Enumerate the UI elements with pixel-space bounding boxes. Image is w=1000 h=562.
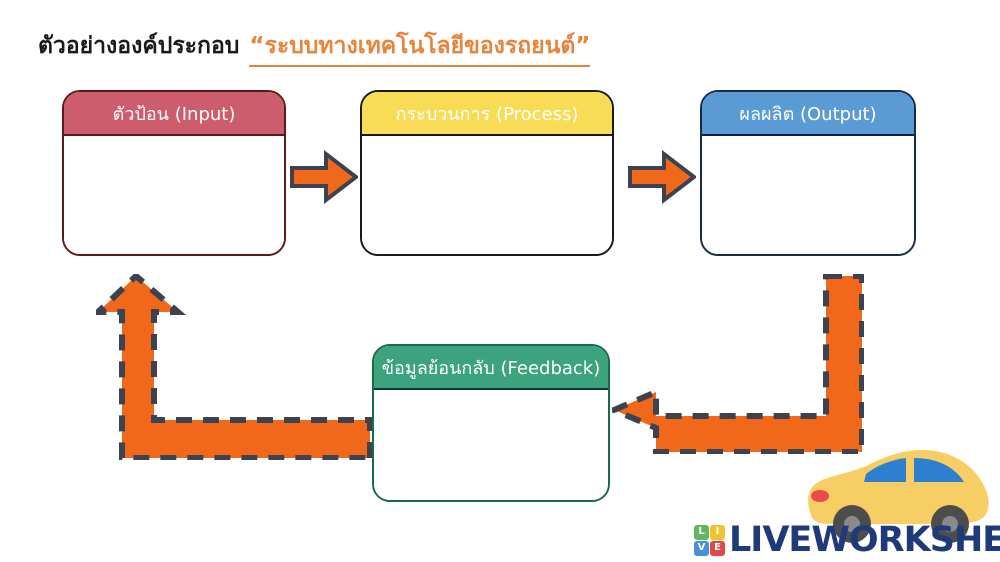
worksheet-canvas: ตัวอย่างองค์ประกอบ “ระบบทางเทคโนโลยีของร… <box>0 0 1000 562</box>
box-feedback[interactable]: ข้อมูลย้อนกลับ (Feedback) <box>372 344 610 502</box>
box-output-header: ผลผลิต (Output) <box>702 92 914 136</box>
arrow-input-to-process-icon <box>290 148 358 206</box>
box-input-answer-area[interactable] <box>64 136 284 254</box>
box-process-answer-area[interactable] <box>362 136 612 254</box>
box-output[interactable]: ผลผลิต (Output) <box>700 90 916 256</box>
arrow-process-to-output-icon <box>628 148 696 206</box>
box-input-header: ตัวป้อน (Input) <box>64 92 284 136</box>
logo-tile-v: V <box>694 541 709 556</box>
box-output-answer-area[interactable] <box>702 136 914 254</box>
page-title-quoted: “ระบบทางเทคโนโลยีของรถยนต์” <box>249 28 590 67</box>
logo-tile-l: L <box>694 525 709 540</box>
box-input[interactable]: ตัวป้อน (Input) <box>62 90 286 256</box>
page-title: ตัวอย่างองค์ประกอบ “ระบบทางเทคโนโลยีของร… <box>38 28 590 67</box>
box-process-header: กระบวนการ (Process) <box>362 92 612 136</box>
box-feedback-header: ข้อมูลย้อนกลับ (Feedback) <box>374 346 608 390</box>
box-process[interactable]: กระบวนการ (Process) <box>360 90 614 256</box>
page-title-main: ตัวอย่างองค์ประกอบ <box>38 28 239 64</box>
box-feedback-answer-area[interactable] <box>374 390 608 500</box>
liveworksheets-logo-tiles: L I V E <box>694 525 725 556</box>
arrow-feedback-to-input-icon <box>96 274 372 460</box>
arrow-output-to-feedback-icon <box>612 274 864 454</box>
liveworksheets-wordmark: LIVEWORKSHEETS <box>729 523 1000 558</box>
logo-tile-i: I <box>710 525 725 540</box>
liveworksheets-logo: L I V E LIVEWORKSHEETS <box>694 521 1000 559</box>
logo-tile-e: E <box>710 541 725 556</box>
